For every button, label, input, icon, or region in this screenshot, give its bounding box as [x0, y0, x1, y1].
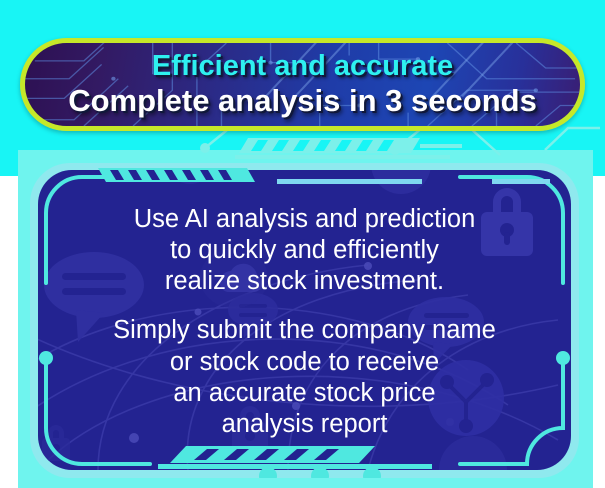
- paragraph-1-line-2: to quickly and efficiently: [134, 235, 476, 266]
- paragraph-2-line-3: an accurate stock price: [113, 378, 496, 409]
- panel-text-block: Use AI analysis and prediction to quickl…: [38, 170, 571, 470]
- paragraph-1: Use AI analysis and prediction to quickl…: [134, 204, 476, 297]
- banner-text-block: Efficient and accurate Complete analysis…: [25, 43, 580, 126]
- paragraph-1-line-3: realize stock investment.: [134, 266, 476, 297]
- paragraph-2-line-2: or stock code to receive: [113, 347, 496, 378]
- paragraph-2-line-1: Simply submit the company name: [113, 315, 496, 346]
- paragraph-2: Simply submit the company name or stock …: [113, 315, 496, 439]
- banner-subheadline: Complete analysis in 3 seconds: [68, 84, 537, 118]
- headline-banner: Efficient and accurate Complete analysis…: [20, 38, 585, 131]
- paragraph-1-line-1: Use AI analysis and prediction: [134, 204, 476, 235]
- banner-headline: Efficient and accurate: [152, 51, 453, 81]
- promo-card: Efficient and accurate Complete analysis…: [0, 0, 605, 488]
- paragraph-2-line-4: analysis report: [113, 409, 496, 440]
